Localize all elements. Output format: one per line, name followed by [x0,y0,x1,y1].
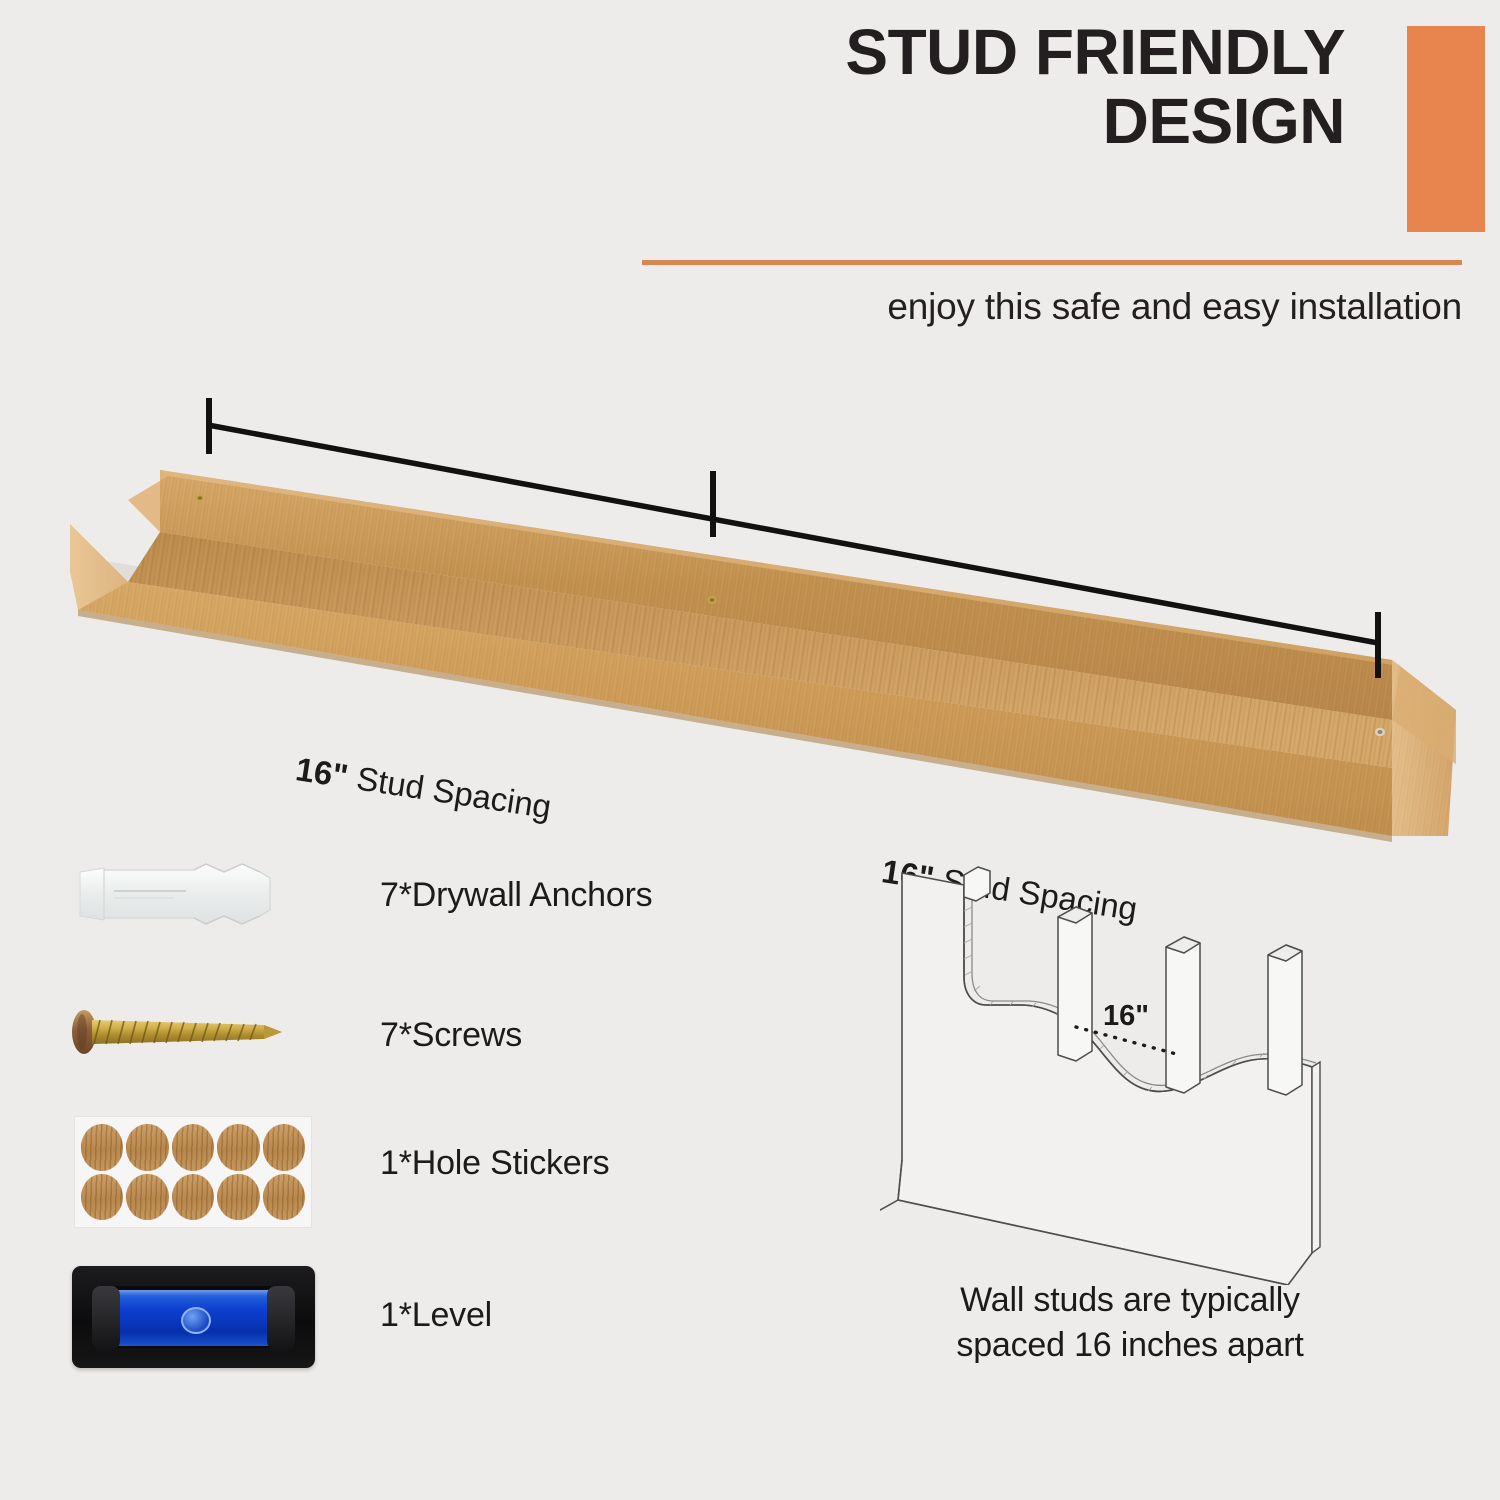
sticker-dot [172,1124,214,1171]
shelf-scene: 16" Stud Spacing 16" Stud Spacing [0,360,1500,880]
sticker-dot [263,1174,305,1221]
caption-line-1: Wall studs are typically [880,1278,1380,1323]
header-subtitle: enjoy this safe and easy installation [640,286,1462,328]
page-title: STUD FRIENDLY DESIGN [640,18,1345,156]
bubble-level-icon [60,1260,320,1370]
dimension-value-left: 16" [293,750,350,794]
sticker-dot [81,1124,123,1171]
part-row-stickers: 1*Hole Stickers [60,1108,820,1218]
part-row-level: 1*Level [60,1260,820,1370]
caption-line-2: spaced 16 inches apart [880,1323,1380,1368]
sticker-sheet [74,1116,312,1228]
part-label-anchors: 7*Drywall Anchors [380,876,653,915]
title-line-1: STUD FRIENDLY [640,18,1345,87]
infographic-stage: STUD FRIENDLY DESIGN enjoy this safe and… [0,0,1500,1500]
part-label-stickers: 1*Hole Stickers [380,1144,609,1183]
level-cap-left [92,1286,120,1350]
part-row-screws: 7*Screws [60,980,820,1090]
level-body [72,1266,315,1368]
screw-icon [60,980,320,1090]
orange-accent-block [1407,26,1485,232]
sticker-dot [217,1174,259,1221]
header-divider [642,260,1462,265]
stud-dimension-label: 16" [1103,1000,1149,1033]
level-cap-right [267,1286,295,1350]
part-label-screws: 7*Screws [380,1016,522,1055]
sticker-dot [126,1174,168,1221]
part-row-anchors: 7*Drywall Anchors [60,840,820,950]
sticker-dot [81,1174,123,1221]
wall-stud-diagram [880,855,1380,1285]
sticker-dot [126,1124,168,1171]
title-line-2: DESIGN [640,87,1345,156]
header: STUD FRIENDLY DESIGN enjoy this safe and… [640,18,1485,348]
stud-diagram-caption: Wall studs are typically spaced 16 inche… [880,1278,1380,1368]
hole-stickers-icon [60,1108,320,1218]
part-label-level: 1*Level [380,1296,492,1335]
sticker-dot [217,1124,259,1171]
sticker-dot [263,1124,305,1171]
drywall-anchor-icon [60,840,320,950]
level-bubble [181,1307,211,1334]
shelf-illustration [0,360,1500,880]
level-vial [106,1290,281,1346]
sticker-dot [172,1174,214,1221]
